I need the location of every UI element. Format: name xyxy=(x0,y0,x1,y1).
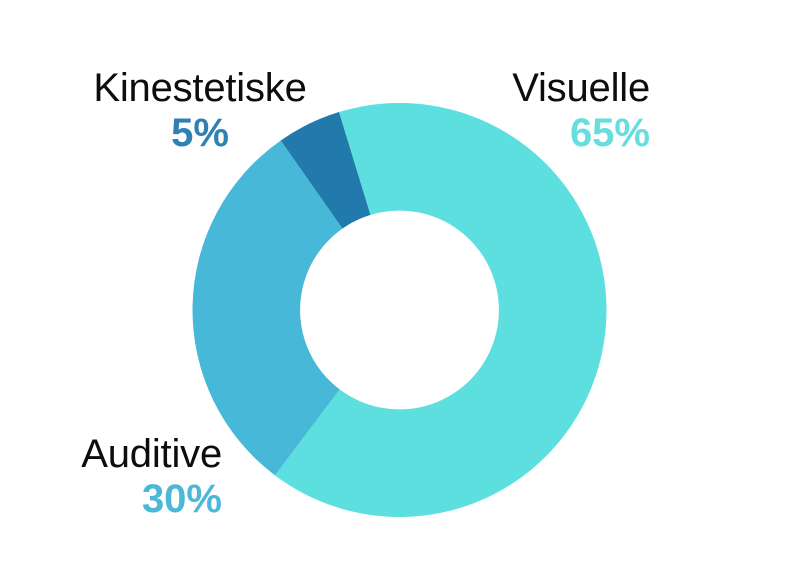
slice-label-visuelle-value: 65% xyxy=(470,113,650,153)
donut-chart: Kinestetiske 5% Visuelle 65% Auditive 30… xyxy=(0,0,800,569)
slice-label-auditive: Auditive 30% xyxy=(40,434,222,519)
donut-hole xyxy=(300,211,499,410)
slice-label-kinestetiske-value: 5% xyxy=(93,113,307,153)
slice-label-kinestetiske-name: Kinestetiske xyxy=(93,68,307,108)
slice-label-visuelle-name: Visuelle xyxy=(470,68,650,108)
slice-label-auditive-value: 30% xyxy=(40,479,222,519)
slice-label-kinestetiske: Kinestetiske 5% xyxy=(93,68,307,153)
slice-label-visuelle: Visuelle 65% xyxy=(470,68,650,153)
slice-label-auditive-name: Auditive xyxy=(40,434,222,474)
